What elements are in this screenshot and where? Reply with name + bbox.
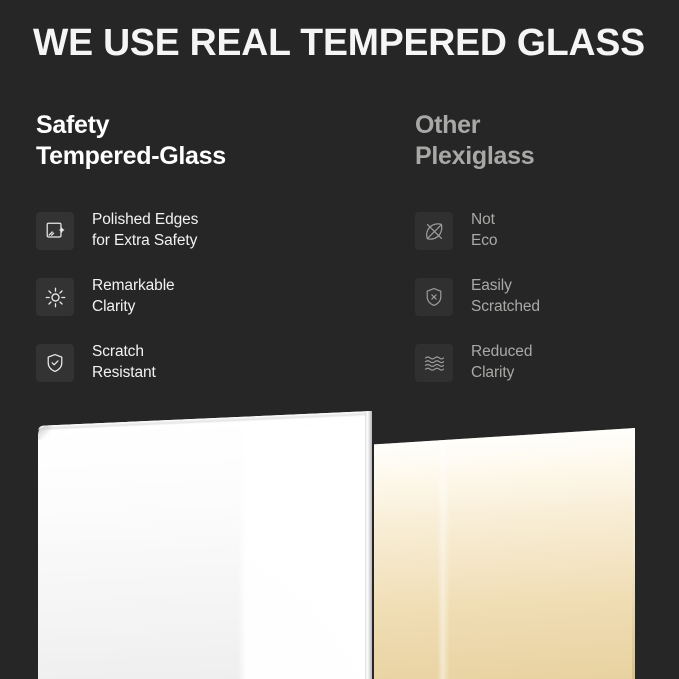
comparison-infographic: WE USE REAL TEMPERED GLASS Safety Temper… (0, 0, 679, 679)
feature-label-line2: Eco (471, 231, 497, 252)
feature-label-line1: Polished Edges (92, 210, 198, 231)
column-heading-line2: Plexiglass (415, 141, 534, 172)
feature-row-easily-scratched: Easily Scratched (415, 278, 679, 316)
feature-row-not-eco: Not Eco (415, 212, 679, 250)
plexiglass-edge (632, 428, 635, 679)
shield-x-icon (423, 286, 445, 308)
feature-label-line1: Reduced (471, 342, 532, 363)
feature-row-scratch-resistant: Scratch Resistant (36, 344, 366, 382)
feature-row-remarkable-clarity: Remarkable Clarity (36, 278, 366, 316)
feature-list: Not Eco Easily Scratched (415, 212, 679, 410)
feature-row-polished-edges: Polished Edges for Extra Safety (36, 212, 366, 250)
waves-blur-icon (423, 352, 446, 375)
brightness-sun-icon (44, 286, 67, 309)
leaf-crossed-out-icon (423, 220, 446, 243)
icon-badge (415, 344, 453, 382)
feature-label-line1: Not (471, 210, 497, 231)
feature-label-line2: Clarity (471, 363, 532, 384)
shield-check-icon (44, 352, 66, 374)
feature-label: Polished Edges for Extra Safety (92, 210, 198, 251)
feature-label: Scratch Resistant (92, 342, 156, 383)
column-heading-line1: Safety (36, 110, 226, 141)
icon-badge (36, 212, 74, 250)
tempered-glass-panel (38, 411, 372, 679)
feature-label: Remarkable Clarity (92, 276, 175, 317)
feature-label: Not Eco (471, 210, 497, 251)
page-title: WE USE REAL TEMPERED GLASS (33, 22, 645, 65)
icon-badge (36, 344, 74, 382)
feature-label-line1: Remarkable (92, 276, 175, 297)
column-heading-line1: Other (415, 110, 534, 141)
plexiglass-panel (374, 428, 635, 679)
column-other-plexiglass: Other Plexiglass Not Eco (415, 110, 534, 172)
tempered-glass-polished-edge (365, 411, 372, 679)
feature-label-line1: Scratch (92, 342, 156, 363)
feature-label: Reduced Clarity (471, 342, 532, 383)
product-photo (0, 395, 679, 679)
feature-row-reduced-clarity: Reduced Clarity (415, 344, 679, 382)
column-heading-line2: Tempered-Glass (36, 141, 226, 172)
icon-badge (415, 212, 453, 250)
icon-badge (415, 278, 453, 316)
feature-label-line2: for Extra Safety (92, 231, 198, 252)
feature-label-line2: Resistant (92, 363, 156, 384)
column-heading: Safety Tempered-Glass (36, 110, 226, 172)
feature-label-line1: Easily (471, 276, 540, 297)
feature-label-line2: Scratched (471, 297, 540, 318)
plexiglass-gloss-highlight (437, 440, 450, 679)
column-safety-tempered-glass: Safety Tempered-Glass Polished Edges (36, 110, 226, 172)
tempered-glass-reflection-band (238, 424, 372, 679)
feature-label: Easily Scratched (471, 276, 540, 317)
column-heading: Other Plexiglass (415, 110, 534, 172)
feature-list: Polished Edges for Extra Safety Remarkab… (36, 212, 366, 410)
polished-edges-icon (44, 220, 66, 242)
feature-label-line2: Clarity (92, 297, 175, 318)
icon-badge (36, 278, 74, 316)
